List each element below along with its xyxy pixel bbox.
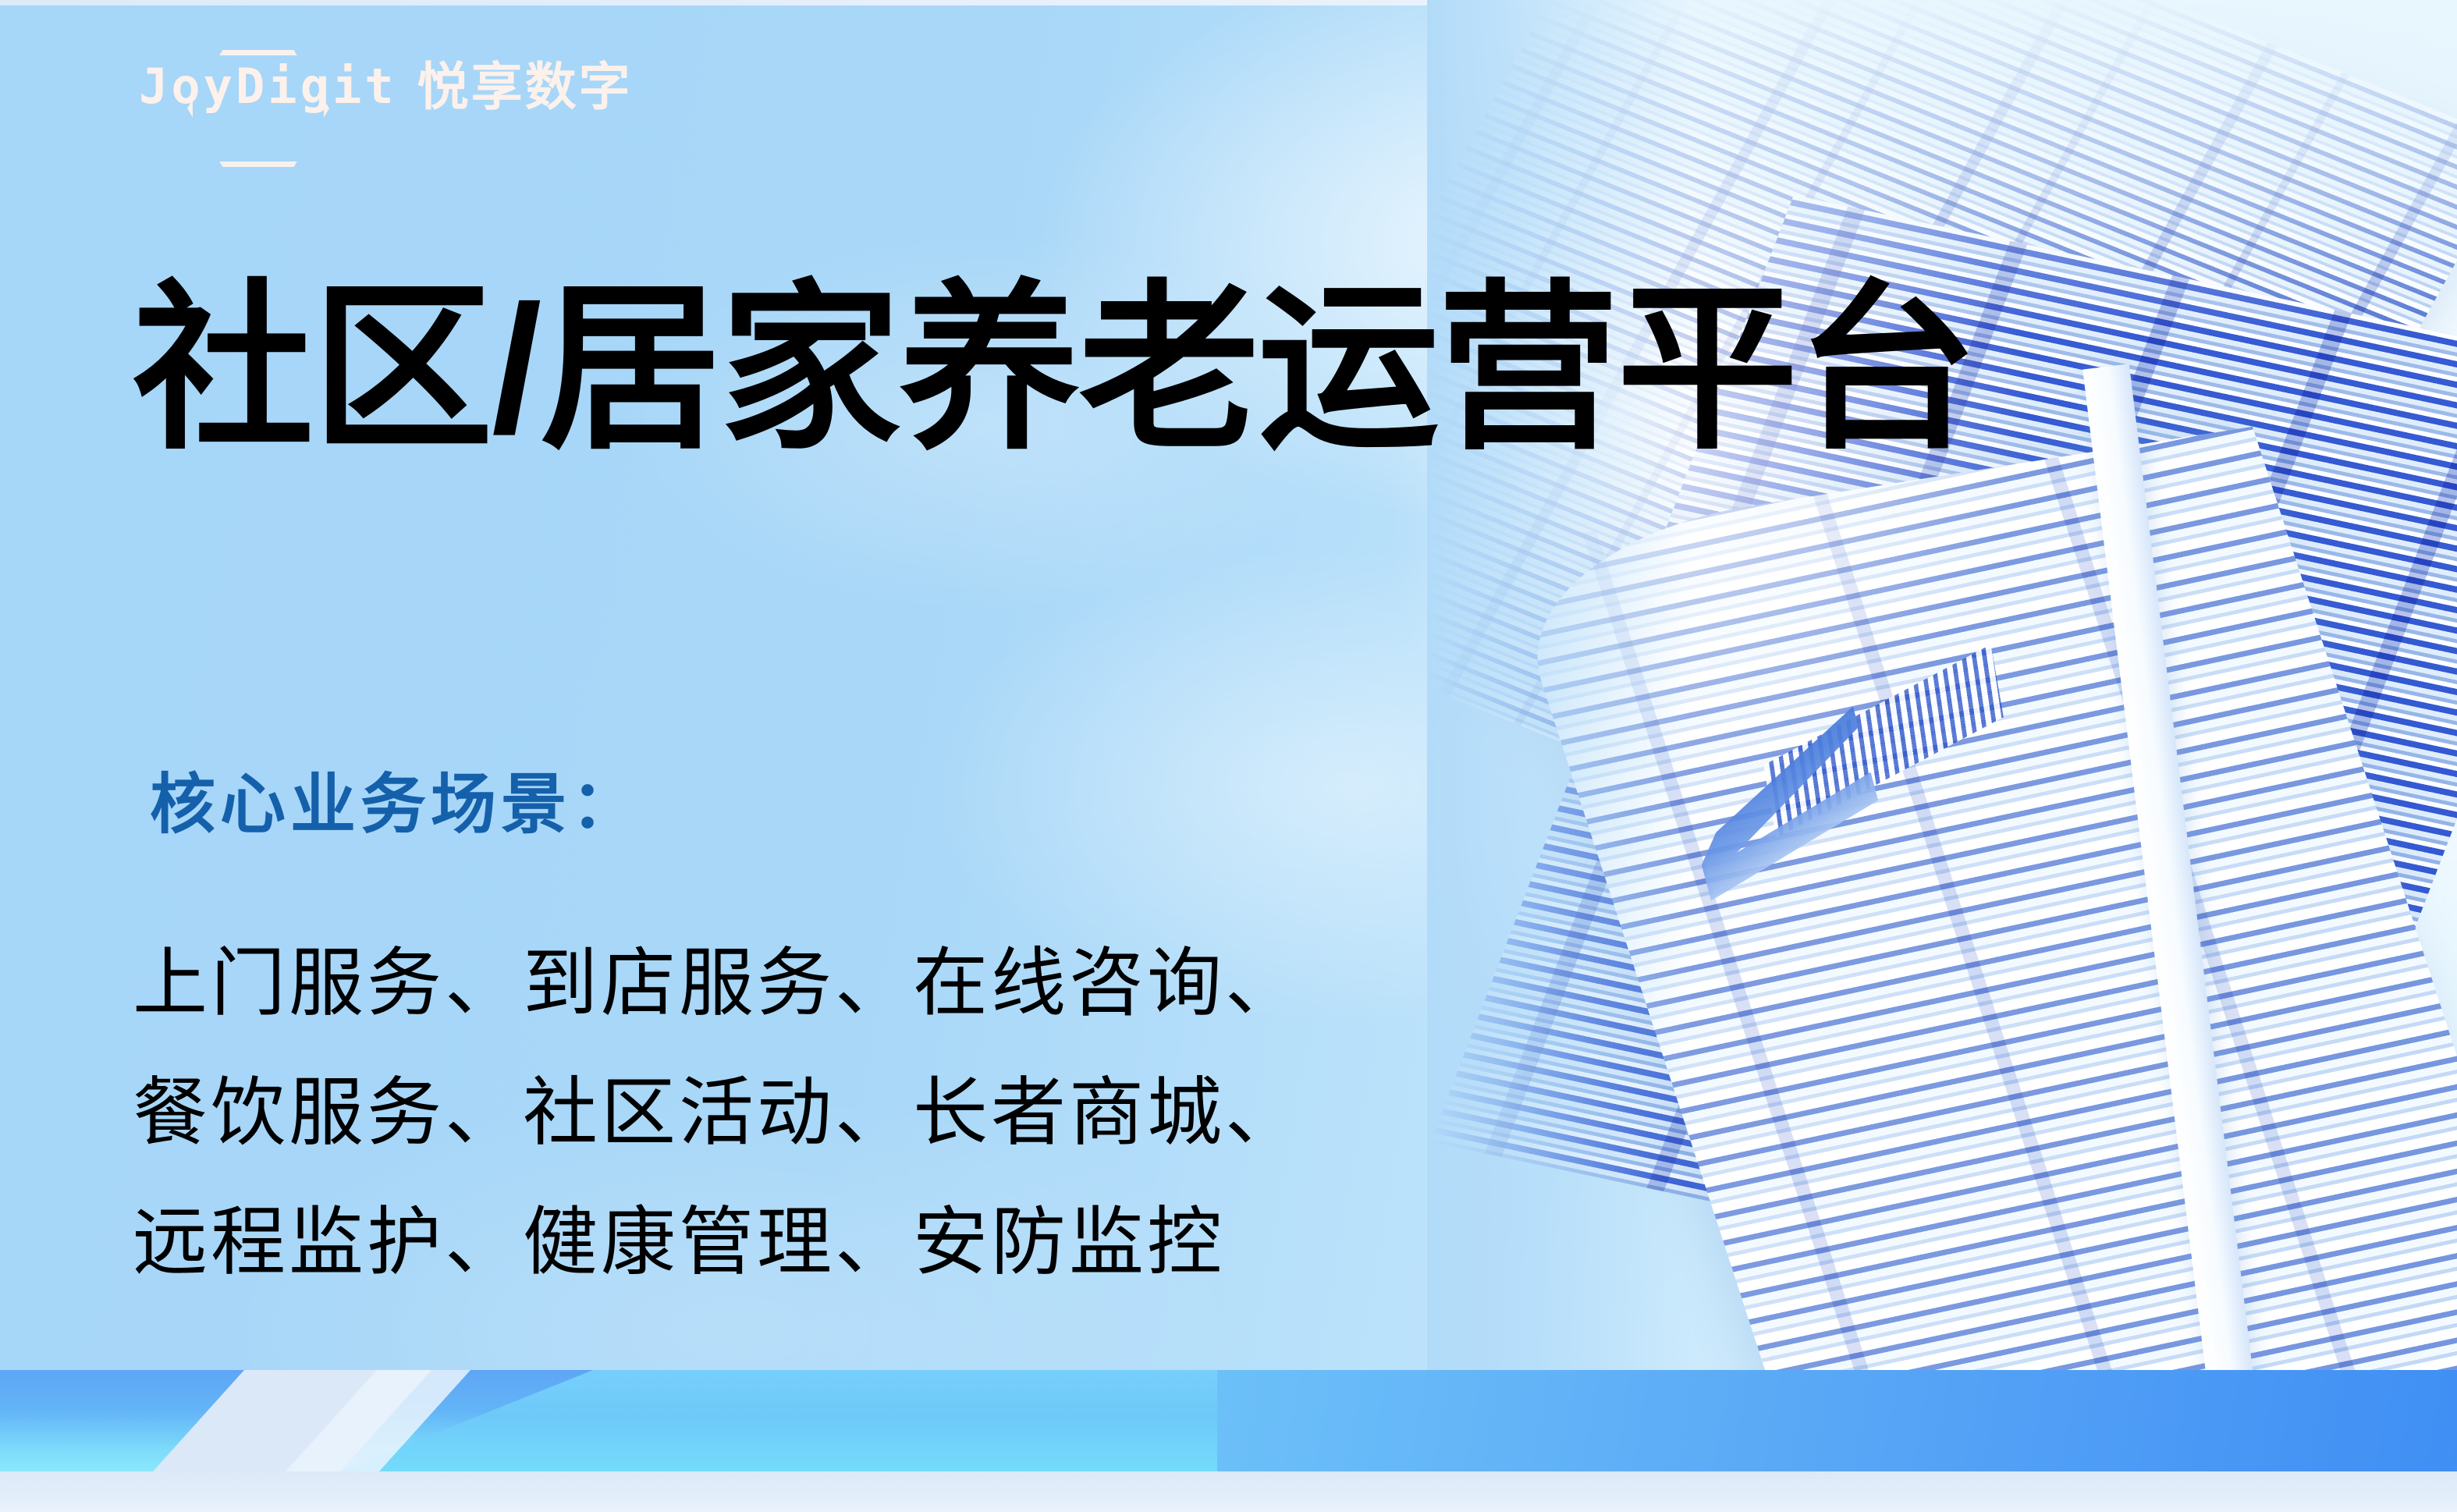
scenario-line: 餐饮服务、社区活动、长者商城、 bbox=[133, 1049, 1303, 1178]
scenario-line: 远程监护、健康管理、安防监控 bbox=[133, 1178, 1303, 1308]
page-title: 社区/居家养老运营平台 bbox=[133, 275, 1976, 465]
scenario-list: 上门服务、到店服务、在线咨询、 餐饮服务、社区活动、长者商城、 远程监护、健康管… bbox=[133, 919, 1303, 1308]
bottom-ribbon bbox=[0, 1370, 2457, 1512]
scenario-line: 上门服务、到店服务、在线咨询、 bbox=[133, 919, 1303, 1049]
brand-logo: JoyDigit 悦享数字 bbox=[139, 61, 633, 112]
ribbon-base-strip bbox=[0, 1471, 2457, 1512]
ribbon-right-block bbox=[1217, 1370, 2457, 1473]
logo-wordmark-cn: 悦享数字 bbox=[417, 61, 633, 112]
slide-canvas: JoyDigit 悦享数字 社区/居家养老运营平台 核心业务场景： 上门服务、到… bbox=[0, 0, 2457, 1512]
logo-wordmark-en: JoyDigit bbox=[139, 62, 397, 111]
building-photo bbox=[1427, 0, 2457, 1397]
section-subheading: 核心业务场景： bbox=[150, 768, 641, 840]
photo-left-fade bbox=[1427, 0, 1692, 1397]
